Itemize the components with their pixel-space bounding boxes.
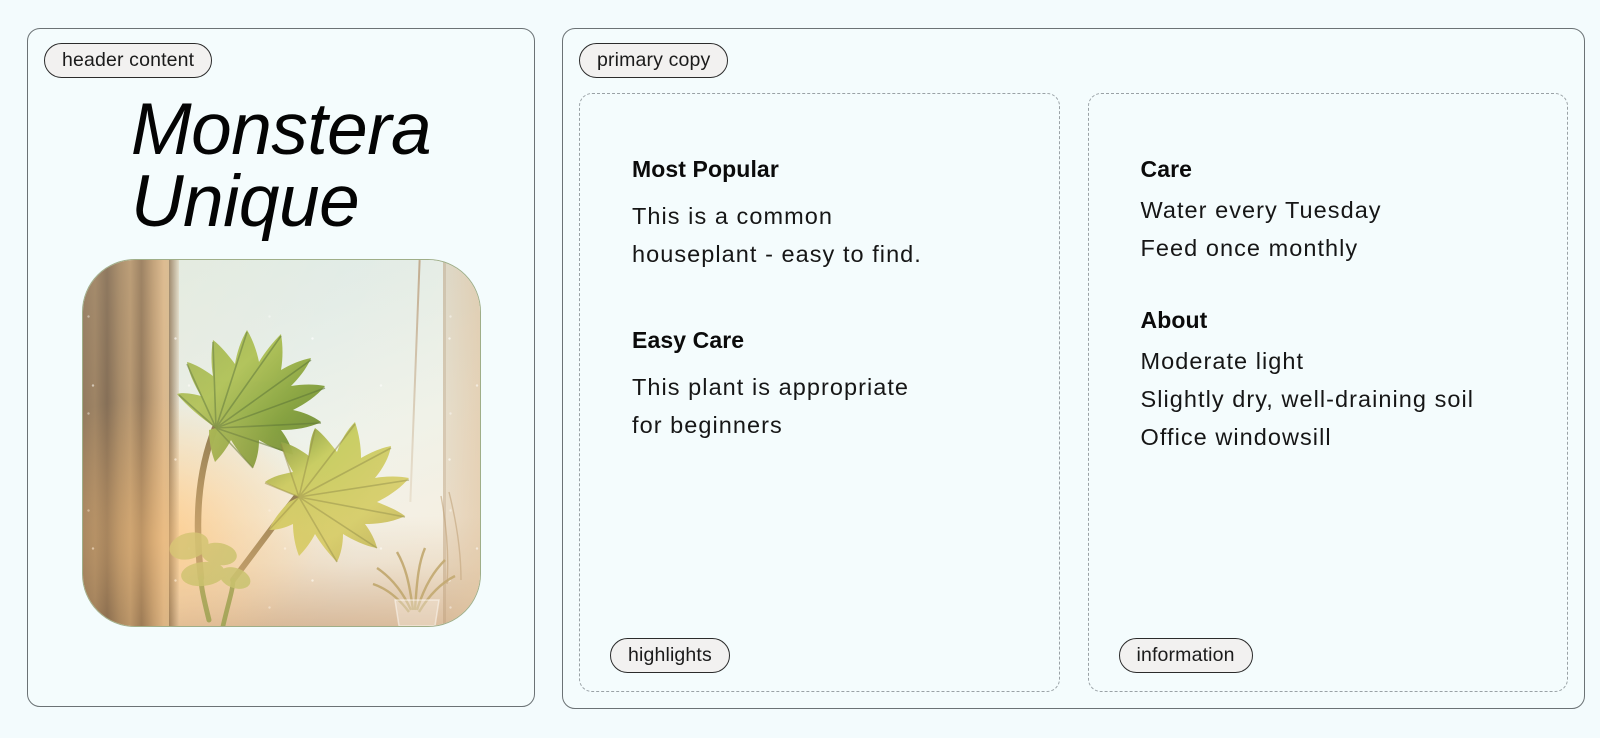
page-title-block: Monstera Unique bbox=[44, 94, 518, 239]
text-line: houseplant - easy to find. bbox=[632, 235, 1007, 273]
badge-header-content: header content bbox=[44, 43, 212, 78]
header-content-panel: header content Monstera Unique bbox=[27, 28, 535, 707]
spacer bbox=[1141, 267, 1516, 307]
plant-photo bbox=[83, 260, 480, 626]
text-line: This plant is appropriate bbox=[632, 368, 1007, 406]
section-heading-about: About bbox=[1141, 307, 1516, 334]
page-root: header content Monstera Unique bbox=[0, 0, 1600, 738]
spacer bbox=[1141, 183, 1516, 191]
section-heading-most-popular: Most Popular bbox=[632, 156, 1007, 183]
page-title: Monstera Unique bbox=[131, 94, 431, 239]
text-line: Water every Tuesday bbox=[1141, 191, 1516, 229]
highlights-subcard: Most Popular This is a common houseplant… bbox=[579, 93, 1060, 692]
spacer bbox=[632, 183, 1007, 197]
subcard-row: Most Popular This is a common houseplant… bbox=[579, 93, 1568, 692]
information-body: Care Water every Tuesday Feed once month… bbox=[1089, 156, 1568, 638]
section-text-most-popular: This is a common houseplant - easy to fi… bbox=[632, 197, 1007, 273]
highlights-footer: highlights bbox=[580, 638, 1059, 673]
badge-highlights: highlights bbox=[610, 638, 730, 673]
spacer bbox=[1141, 334, 1516, 342]
section-text-about: Moderate light Slightly dry, well-draini… bbox=[1141, 342, 1516, 456]
spacer bbox=[632, 273, 1007, 327]
right-badge-row: primary copy bbox=[579, 43, 1568, 78]
text-line: Moderate light bbox=[1141, 342, 1516, 380]
plant-illustration bbox=[83, 260, 480, 626]
section-text-easy-care: This plant is appropriate for beginners bbox=[632, 368, 1007, 444]
section-heading-care: Care bbox=[1141, 156, 1516, 183]
section-text-care: Water every Tuesday Feed once monthly bbox=[1141, 191, 1516, 267]
text-line: Feed once monthly bbox=[1141, 229, 1516, 267]
primary-copy-panel: primary copy Most Popular This is a comm… bbox=[562, 28, 1585, 709]
text-line: This is a common bbox=[632, 197, 1007, 235]
text-line: Office windowsill bbox=[1141, 418, 1516, 456]
text-line: for beginners bbox=[632, 406, 1007, 444]
badge-primary-copy: primary copy bbox=[579, 43, 728, 78]
highlights-body: Most Popular This is a common houseplant… bbox=[580, 156, 1059, 638]
spacer bbox=[632, 354, 1007, 368]
information-footer: information bbox=[1089, 638, 1568, 673]
information-subcard: Care Water every Tuesday Feed once month… bbox=[1088, 93, 1569, 692]
text-line: Slightly dry, well-draining soil bbox=[1141, 380, 1516, 418]
left-badge-row: header content bbox=[44, 43, 518, 78]
badge-information: information bbox=[1119, 638, 1253, 673]
section-heading-easy-care: Easy Care bbox=[632, 327, 1007, 354]
